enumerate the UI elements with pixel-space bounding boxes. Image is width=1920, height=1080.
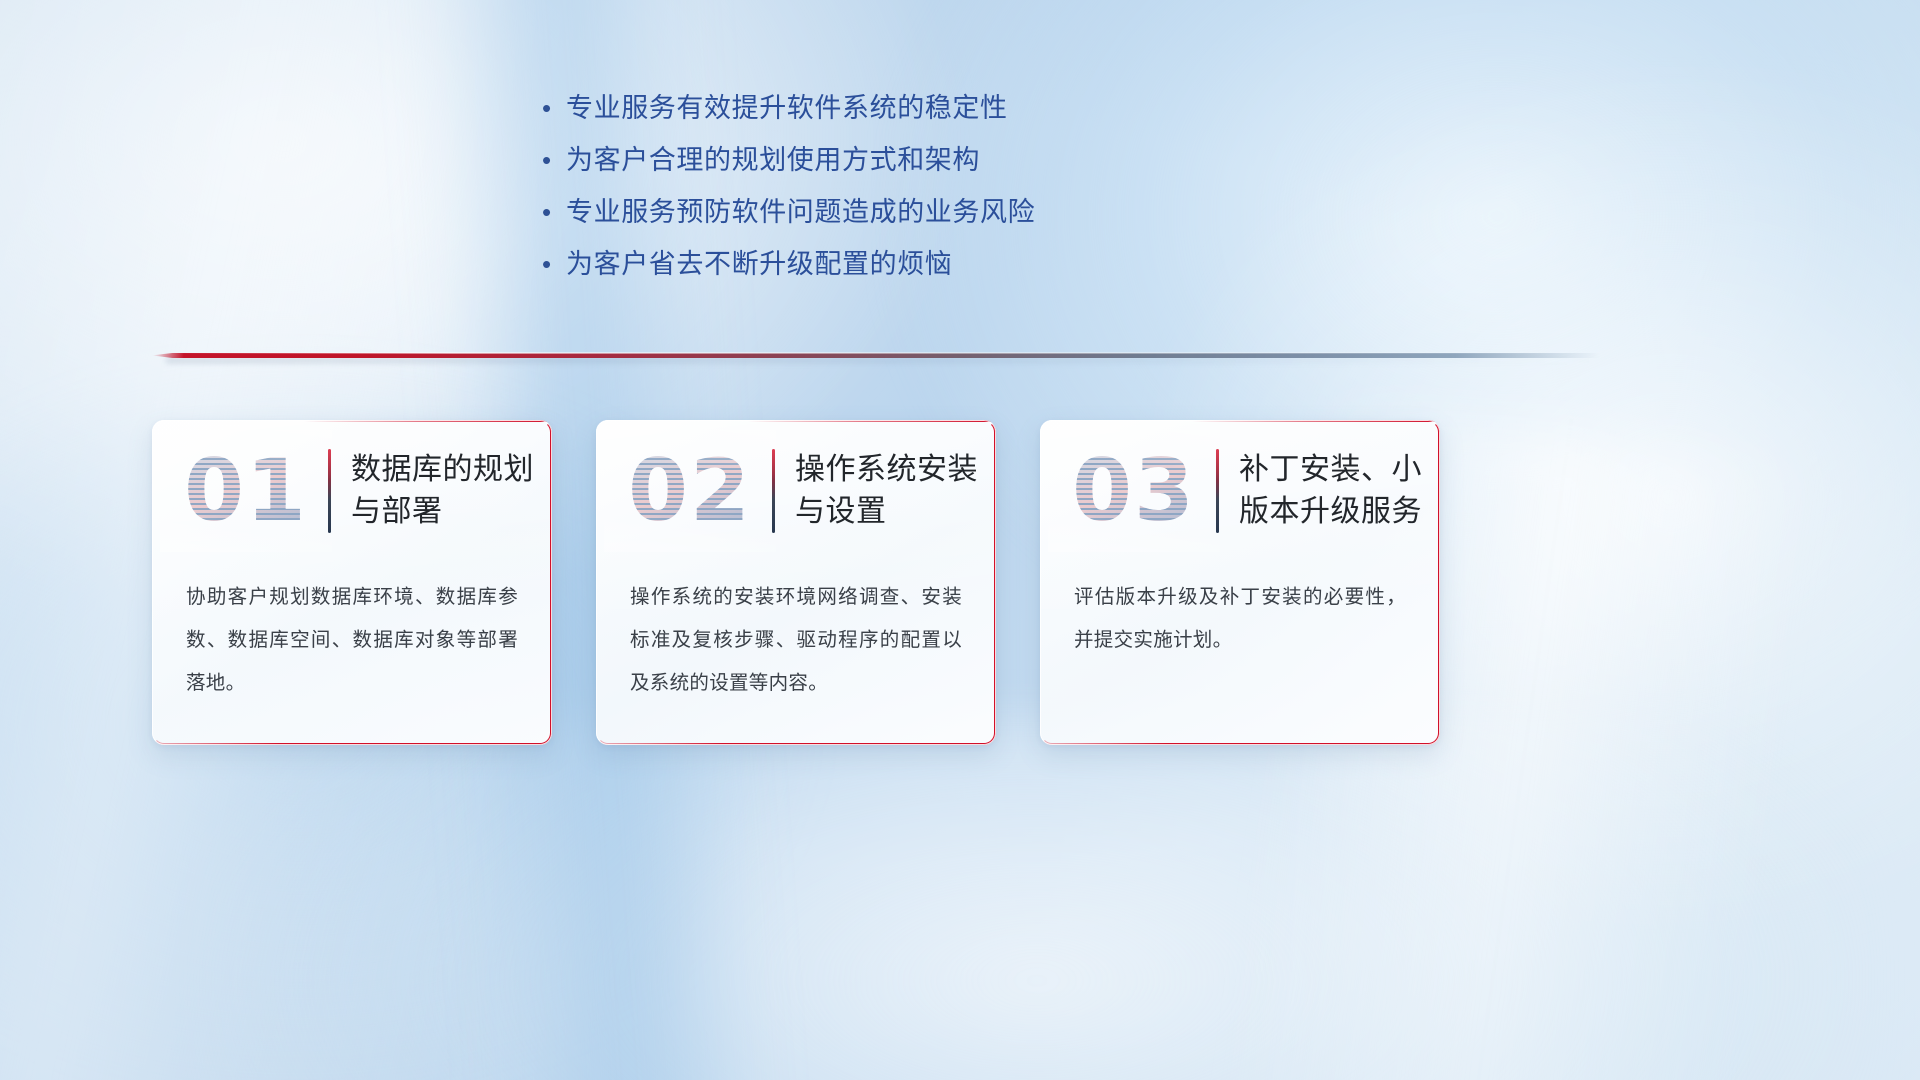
service-card-02[interactable]: 02 操作系统安装与设置 操作系统的安装环境网络调查、安装标准及复核步骤、驱动程…	[596, 420, 996, 745]
bullet-text: 专业服务有效提升软件系统的稳定性	[566, 88, 1008, 128]
card-number-badge: 02	[610, 436, 770, 546]
bullet-item: • 为客户省去不断升级配置的烦恼	[536, 244, 1236, 296]
card-title-rule	[1216, 449, 1219, 533]
card-number-text: 02	[628, 448, 752, 534]
section-divider	[152, 350, 1600, 362]
service-card-03[interactable]: 03 补丁安装、小版本升级服务 评估版本升级及补丁安装的必要性，并提交实施计划。	[1040, 420, 1440, 745]
card-title: 补丁安装、小版本升级服务	[1239, 449, 1422, 533]
card-body-text: 评估版本升级及补丁安装的必要性，并提交实施计划。	[1040, 548, 1440, 662]
card-body-text: 协助客户规划数据库环境、数据库参数、数据库空间、数据库对象等部署落地。	[152, 548, 552, 705]
bullet-text: 为客户合理的规划使用方式和架构	[566, 140, 980, 180]
bullet-item: • 专业服务有效提升软件系统的稳定性	[536, 88, 1236, 140]
service-card-row: 01 数据库的规划与部署 协助客户规划数据库环境、数据库参数、数据库空间、数据库…	[152, 420, 1752, 750]
bullet-marker-icon: •	[536, 88, 566, 128]
card-header: 01 数据库的规划与部署	[152, 420, 552, 548]
card-title-rule	[772, 449, 775, 533]
card-title: 操作系统安装与设置	[795, 449, 978, 533]
bullet-marker-icon: •	[536, 140, 566, 180]
bullet-marker-icon: •	[536, 192, 566, 232]
service-card-01[interactable]: 01 数据库的规划与部署 协助客户规划数据库环境、数据库参数、数据库空间、数据库…	[152, 420, 552, 745]
bullet-text: 专业服务预防软件问题造成的业务风险	[566, 192, 1035, 232]
card-number-text: 01	[184, 448, 308, 534]
divider-highlight	[166, 352, 1600, 354]
bullet-item: • 为客户合理的规划使用方式和架构	[536, 140, 1236, 192]
card-number-badge: 01	[166, 436, 326, 546]
card-title-rule	[328, 449, 331, 533]
card-header: 02 操作系统安装与设置	[596, 420, 996, 548]
bullet-item: • 专业服务预防软件问题造成的业务风险	[536, 192, 1236, 244]
bullet-text: 为客户省去不断升级配置的烦恼	[566, 244, 952, 284]
card-number-text: 03	[1072, 448, 1196, 534]
benefits-bullet-list: • 专业服务有效提升软件系统的稳定性 • 为客户合理的规划使用方式和架构 • 专…	[536, 88, 1236, 296]
card-title: 数据库的规划与部署	[351, 449, 534, 533]
bullet-marker-icon: •	[536, 244, 566, 284]
divider-shadow	[166, 358, 1600, 363]
card-header: 03 补丁安装、小版本升级服务	[1040, 420, 1440, 548]
card-number-badge: 03	[1054, 436, 1214, 546]
card-body-text: 操作系统的安装环境网络调查、安装标准及复核步骤、驱动程序的配置以及系统的设置等内…	[596, 548, 996, 705]
